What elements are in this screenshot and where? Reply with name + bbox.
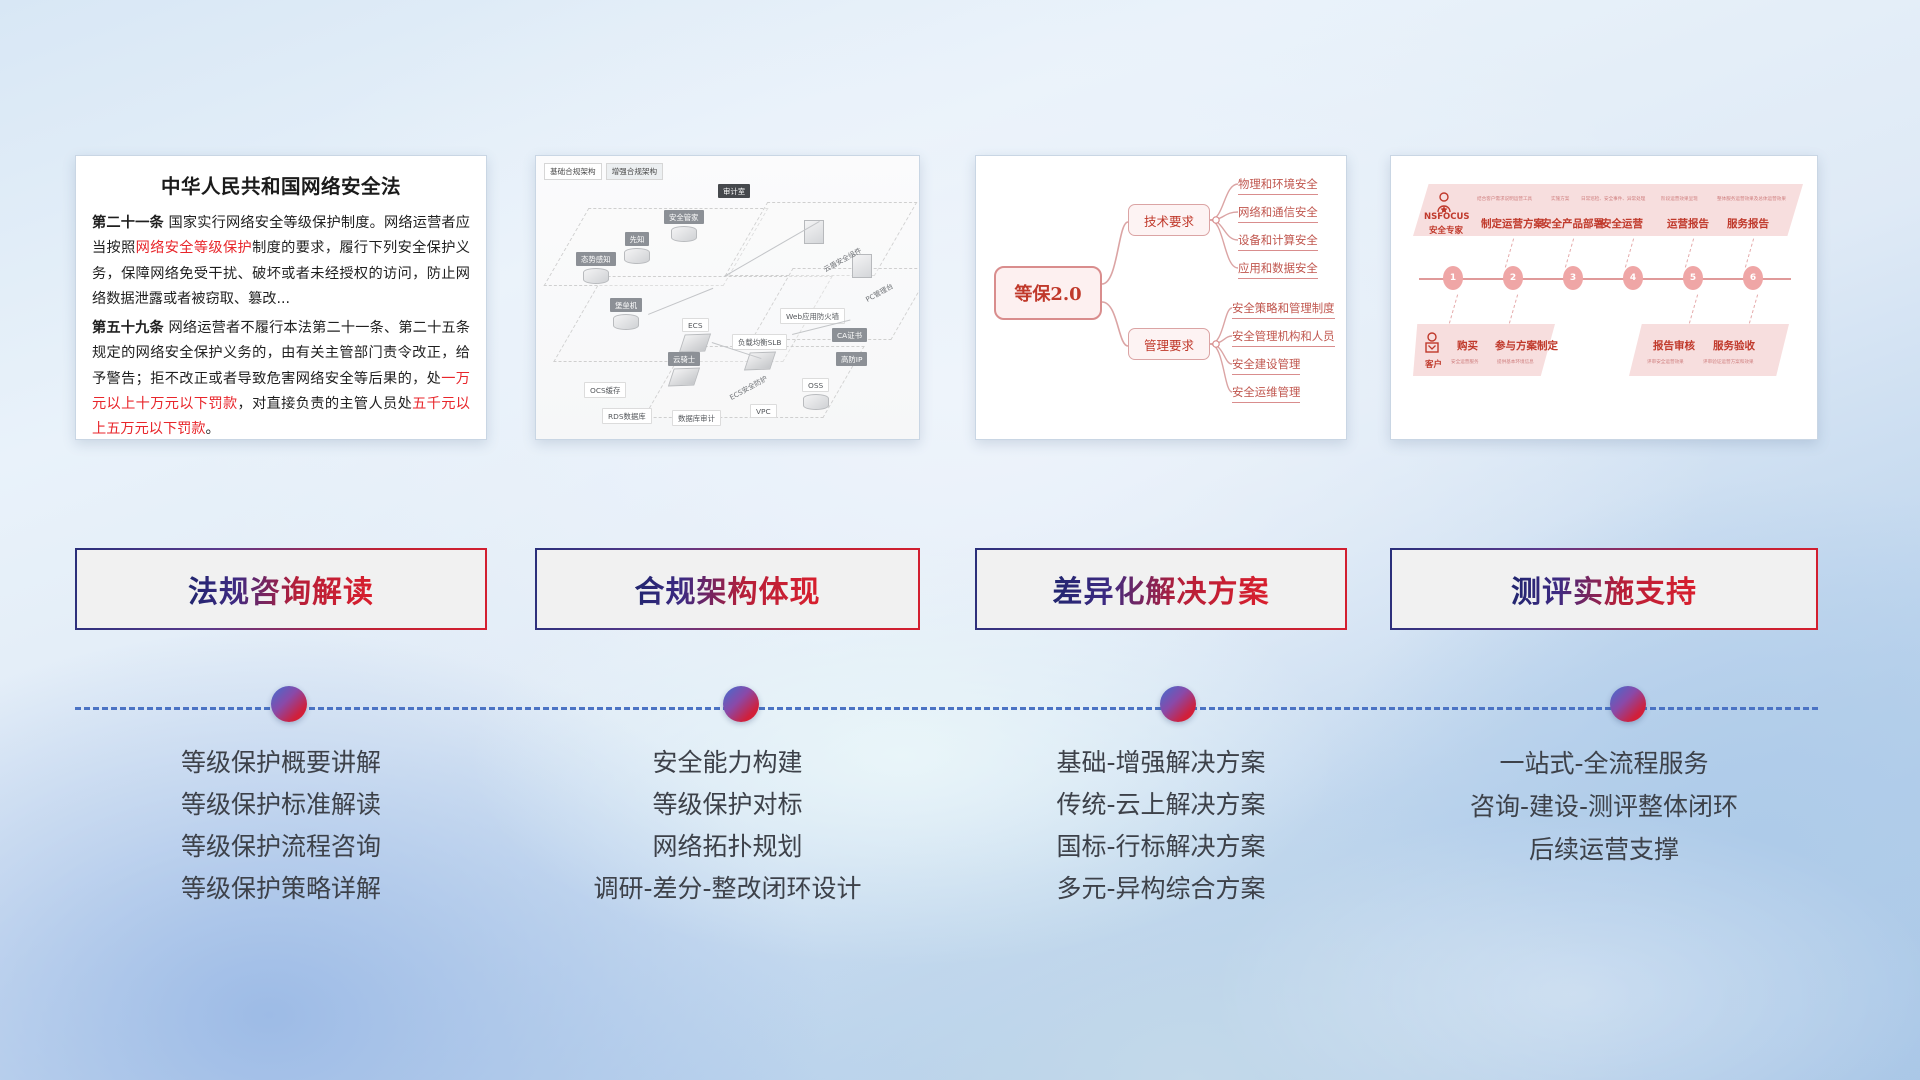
mindmap-leaf: 安全建设管理 [1232, 356, 1300, 375]
arch-node-shape [803, 394, 829, 410]
arch-node: 先知 [624, 232, 650, 264]
timeline-node-1[interactable] [271, 686, 307, 722]
heading-box-differentiated-solutions[interactable]: 差异化解决方案 [975, 548, 1347, 630]
card-mindmap-dengbao[interactable]: 等保2.0 技术要求 管理要求 物理和环境安全 网络和通信安全 设备和计算安全 … [975, 155, 1347, 440]
mindmap-leaf: 物理和环境安全 [1238, 176, 1318, 195]
mindmap-leaf: 安全运维管理 [1232, 384, 1300, 403]
vendor-step-main: 运营报告 [1667, 216, 1709, 231]
law-title: 中华人民共和国网络安全法 [92, 170, 470, 199]
vendor-step-sub: 结合客户需求说明运营工具 [1477, 196, 1532, 202]
list-item: 传统-云上解决方案 [975, 784, 1347, 826]
vendor-step-sub: 阶段运营效果呈现 [1661, 196, 1698, 202]
timeline-step-number: 1 [1443, 266, 1463, 290]
law-paragraph: 第二十一条 国家实行网络安全等级保护制度。网络运营者应当按照网络安全等级保护制度… [92, 211, 470, 312]
law-paragraph: 第五十九条 网络运营者不履行本法第二十一条、第二十五条规定的网络安全保护义务的，… [92, 316, 470, 440]
heading-box-regulation-consulting[interactable]: 法规咨询解读 [75, 548, 487, 630]
customer-step-main: 参与方案制定 [1495, 338, 1558, 353]
arch-node-shape [583, 268, 609, 284]
customer-role: 客户 [1425, 358, 1442, 370]
service-timeline: NSFOCUS 安全专家 结合客户需求说明运营工具 制定运营方案 实施方案 安全… [1391, 156, 1817, 439]
arch-node-shape [613, 314, 639, 330]
arch-node: ECS [682, 318, 709, 352]
list-item: 网络拓扑规划 [535, 826, 920, 868]
list-item: 国标-行标解决方案 [975, 826, 1347, 868]
vendor-step-sub: 实施方案 [1551, 196, 1569, 202]
arch-node: CA证书 [832, 328, 867, 342]
mindmap-root: 等保2.0 [994, 266, 1102, 320]
vendor-step-sub: 日常巡检、安全事件、异常处理 [1581, 196, 1645, 202]
mindmap: 等保2.0 技术要求 管理要求 物理和环境安全 网络和通信安全 设备和计算安全 … [976, 156, 1346, 439]
arch-node [804, 218, 824, 244]
arch-node: 云骑士 [668, 352, 700, 386]
mindmap-leaf: 网络和通信安全 [1238, 204, 1318, 223]
list-item: 基础-增强解决方案 [975, 742, 1347, 784]
timeline-step-number: 4 [1623, 266, 1643, 290]
detail-list-differentiated-solutions: 基础-增强解决方案 传统-云上解决方案 国标-行标解决方案 多元-异构综合方案 [975, 742, 1347, 910]
heading-box-compliance-architecture[interactable]: 合规架构体现 [535, 548, 920, 630]
arch-node-shape [671, 226, 697, 242]
timeline-link [1565, 238, 1574, 267]
list-item: 等级保护策略详解 [75, 868, 487, 910]
timeline-link [1685, 238, 1694, 267]
arch-node: VPC [750, 404, 777, 418]
list-item: 等级保护概要讲解 [75, 742, 487, 784]
mindmap-leaf: 安全管理机构和人员 [1232, 328, 1335, 347]
law-highlight: 网络安全等级保护 [136, 240, 252, 256]
timeline-link [1689, 294, 1698, 323]
arch-node-shape [668, 368, 700, 387]
card-nsfocus-service-timeline[interactable]: NSFOCUS 安全专家 结合客户需求说明运营工具 制定运营方案 实施方案 安全… [1390, 155, 1818, 440]
tab-enhanced-architecture[interactable]: 增强合规架构 [606, 163, 664, 180]
heading-label: 差异化解决方案 [1053, 567, 1270, 611]
heading-label: 合规架构体现 [635, 567, 821, 611]
detail-list-regulation-consulting: 等级保护概要讲解 等级保护标准解读 等级保护流程咨询 等级保护策略详解 [75, 742, 487, 910]
card-cybersecurity-law[interactable]: 中华人民共和国网络安全法 第二十一条 国家实行网络安全等级保护制度。网络运营者应… [75, 155, 487, 440]
timeline-link [1509, 294, 1518, 323]
detail-list-assessment-support: 一站式-全流程服务 咨询-建设-测评整体闭环 后续运营支撑 [1390, 742, 1818, 871]
heading-label: 法规咨询解读 [188, 567, 374, 611]
vendor-step-main: 制定运营方案 [1481, 216, 1544, 231]
customer-step-main: 服务验收 [1713, 338, 1755, 353]
arch-node: OSS [802, 378, 829, 410]
arch-node: 审计室 [718, 184, 750, 198]
timeline-link [1505, 238, 1514, 267]
mindmap-leaf: 安全策略和管理制度 [1232, 300, 1335, 319]
arch-node-label: 审计室 [718, 184, 750, 198]
arch-node-label: 高防IP [836, 352, 867, 366]
timeline-link [1749, 294, 1758, 323]
timeline-node-3[interactable] [1160, 686, 1196, 722]
tab-basic-architecture[interactable]: 基础合规架构 [544, 163, 602, 180]
timeline-axis [1419, 278, 1791, 280]
list-item: 安全能力构建 [535, 742, 920, 784]
customer-step-sub: 提供基本环境信息 [1497, 359, 1534, 365]
arch-node-label: VPC [750, 404, 777, 418]
vendor-step-main: 安全产品部署 [1541, 216, 1604, 231]
timeline-step-number: 6 [1743, 266, 1763, 290]
heading-box-assessment-support[interactable]: 测评实施支持 [1390, 548, 1818, 630]
vendor-role: 安全专家 [1429, 224, 1463, 236]
list-item: 调研-差分-整改闭环设计 [535, 868, 920, 910]
arch-node: OCS缓存 [584, 382, 626, 398]
timeline-step-number: 2 [1503, 266, 1523, 290]
customer-step-main: 购买 [1457, 338, 1478, 353]
mindmap-branch-management: 管理要求 [1128, 328, 1210, 360]
timeline-node-4[interactable] [1610, 686, 1646, 722]
customer-avatar-icon [1423, 332, 1441, 359]
timeline-link [1449, 294, 1458, 323]
list-item: 咨询-建设-测评整体闭环 [1390, 785, 1818, 828]
customer-step-sub: 安全运营服务 [1451, 359, 1479, 365]
law-body: 第二十一条 国家实行网络安全等级保护制度。网络运营者应当按照网络安全等级保护制度… [92, 211, 470, 440]
arch-node-label: 先知 [625, 232, 650, 246]
list-item: 多元-异构综合方案 [975, 868, 1347, 910]
arch-node-label: 态势感知 [576, 252, 616, 266]
arch-node-label: 堡垒机 [610, 298, 642, 312]
timeline-dashed-rule [75, 707, 1818, 710]
arch-node-label: CA证书 [832, 328, 867, 342]
arch-node: 安全管家 [664, 210, 704, 242]
arch-node-label: OCS缓存 [584, 382, 626, 398]
process-timeline [75, 686, 1818, 730]
timeline-link [1745, 238, 1754, 267]
customer-step-sub: 评审安全运营效果 [1647, 359, 1684, 365]
customer-step-sub: 评审验证运营方案和效果 [1703, 359, 1754, 365]
arch-node-label: Web应用防火墙 [780, 308, 845, 324]
architecture-diagram: 基础合规架构 增强合规架构 审计室 安全管家 先知 态势感知 [536, 156, 919, 439]
detail-list-compliance-architecture: 安全能力构建 等级保护对标 网络拓扑规划 调研-差分-整改闭环设计 [535, 742, 920, 910]
heading-label: 测评实施支持 [1511, 567, 1697, 611]
customer-step-main: 报告审核 [1653, 338, 1695, 353]
arch-node: RDS数据库 [602, 408, 652, 424]
mindmap-leaf: 应用和数据安全 [1238, 260, 1318, 279]
arch-node: 高防IP [836, 352, 867, 366]
list-item: 等级保护流程咨询 [75, 826, 487, 868]
vendor-name: NSFOCUS [1424, 212, 1470, 222]
timeline-node-2[interactable] [723, 686, 759, 722]
law-text: 。 [206, 421, 220, 437]
arch-node: 数据库审计 [672, 410, 721, 426]
arch-node-label: 安全管家 [664, 210, 704, 224]
list-item: 一站式-全流程服务 [1390, 742, 1818, 785]
mindmap-branch-technical: 技术要求 [1128, 204, 1210, 236]
arch-node-label: OSS [802, 378, 829, 392]
law-article-label: 第五十九条 [92, 320, 164, 336]
section-headings-row: 法规咨询解读 合规架构体现 差异化解决方案 测评实施支持 [0, 548, 1920, 630]
architecture-tabs[interactable]: 基础合规架构 增强合规架构 [544, 163, 663, 180]
arch-node: 堡垒机 [610, 298, 642, 330]
vendor-step-main: 服务报告 [1727, 216, 1769, 231]
list-item: 后续运营支撑 [1390, 828, 1818, 871]
arch-node-label: 云骑士 [668, 352, 700, 366]
arch-node-label: RDS数据库 [602, 408, 652, 424]
arch-node-shape [624, 248, 650, 264]
card-compliance-architecture[interactable]: 基础合规架构 增强合规架构 审计室 安全管家 先知 态势感知 [535, 155, 920, 440]
arch-node-label: 数据库审计 [672, 410, 721, 426]
arch-node-label: ECS [682, 318, 709, 332]
timeline-step-number: 5 [1683, 266, 1703, 290]
arch-node: 态势感知 [576, 252, 616, 284]
vendor-step-main: 安全运营 [1601, 216, 1643, 231]
list-item: 等级保护标准解读 [75, 784, 487, 826]
mindmap-leaf: 设备和计算安全 [1238, 232, 1318, 251]
preview-cards-row: 中华人民共和国网络安全法 第二十一条 国家实行网络安全等级保护制度。网络运营者应… [0, 155, 1920, 445]
law-article-label: 第二十一条 [92, 215, 164, 231]
law-text: ，对直接负责的主管人员处 [238, 396, 413, 412]
arch-node: Web应用防火墙 [780, 308, 845, 324]
arch-node-label: 负载均衡SLB [732, 334, 787, 350]
timeline-link [1625, 238, 1634, 267]
vendor-step-sub: 整体服务运营效果及总体运营效果 [1717, 196, 1786, 202]
timeline-step-number: 3 [1563, 266, 1583, 290]
list-item: 等级保护对标 [535, 784, 920, 826]
arch-node-shape [679, 334, 711, 353]
